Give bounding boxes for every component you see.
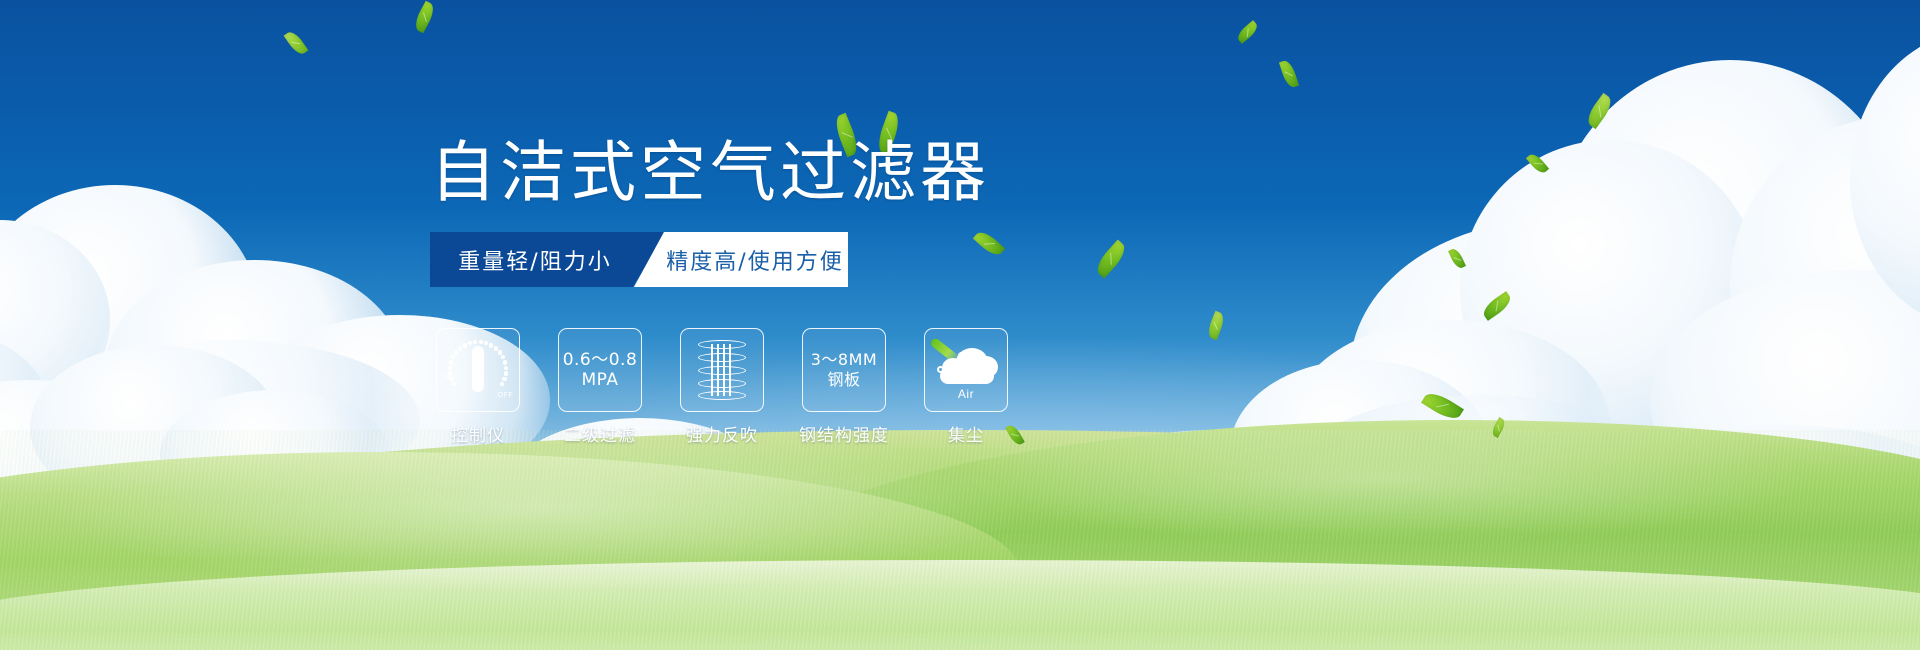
gauge-tick-icon xyxy=(452,382,456,386)
badge-precision-easyuse[interactable]: 精度高/使用方便 xyxy=(634,232,848,287)
gauge-tick-icon xyxy=(504,371,508,375)
feature-strong-backblow[interactable]: 强力反吹 xyxy=(680,328,764,446)
page-title: 自洁式空气过滤器 xyxy=(430,140,990,206)
feature-icon-text-line1: 3～8MM xyxy=(811,350,877,370)
feature-icon-text: 3～8MM 钢板 xyxy=(811,350,877,390)
filter-cartridge-icon xyxy=(698,340,746,400)
gauge-tick-icon xyxy=(454,350,458,354)
gauge-label-off: OFF xyxy=(498,392,513,399)
gauge-tick-icon xyxy=(500,382,504,386)
feature-icon-text-line1: 0.6～0.8 xyxy=(563,350,638,370)
gauge-tick-icon xyxy=(503,360,507,364)
feature-label: 钢结构强度 xyxy=(799,421,889,446)
feature-icon-box xyxy=(680,328,764,412)
gauge-needle-icon xyxy=(472,346,484,392)
hero-banner: 自洁式空气过滤器 重量轻/阻力小 精度高/使用方便 NO OFF 控制仪 xyxy=(0,0,1920,650)
feature-icon-box: 0.6～0.8 MPA xyxy=(558,328,642,412)
gauge-tick-icon xyxy=(498,350,502,354)
gauge-tick-icon xyxy=(458,346,462,350)
air-cloud-icon: Air xyxy=(934,340,998,400)
feature-label: 控制仪 xyxy=(451,421,505,446)
gauge-tick-icon xyxy=(502,377,506,381)
feature-label: 集尘 xyxy=(948,421,984,446)
badge-lightweight-lowresistance[interactable]: 重量轻/阻力小 xyxy=(430,232,666,287)
feature-controller[interactable]: NO OFF 控制仪 xyxy=(436,328,520,446)
feature-icon-box: NO OFF xyxy=(436,328,520,412)
banner-content: 自洁式空气过滤器 重量轻/阻力小 精度高/使用方便 NO OFF 控制仪 xyxy=(0,0,1920,650)
feature-icon-row: NO OFF 控制仪 0.6～0.8 MPA 二级过滤 xyxy=(436,328,1008,446)
air-label: Air xyxy=(934,387,998,401)
gauge-tick-icon xyxy=(449,360,453,364)
gauge-tick-icon xyxy=(504,366,508,370)
feature-icon-text-line2: MPA xyxy=(563,370,638,390)
gauge-label-no: NO xyxy=(444,374,455,381)
feature-steel-strength[interactable]: 3～8MM 钢板 钢结构强度 xyxy=(802,328,886,446)
feature-icon-box: 3～8MM 钢板 xyxy=(802,328,886,412)
gauge-tick-icon xyxy=(463,343,467,347)
gauge-tick-icon xyxy=(494,346,498,350)
gauge-tick-icon xyxy=(489,343,493,347)
gauge-tick-icon xyxy=(473,340,477,344)
feature-two-stage-filter[interactable]: 0.6～0.8 MPA 二级过滤 xyxy=(558,328,642,446)
gauge-tick-icon xyxy=(468,341,472,345)
gauge-icon: NO OFF xyxy=(445,338,511,402)
gauge-tick-icon xyxy=(479,340,483,344)
feature-label: 强力反吹 xyxy=(686,421,758,446)
feature-dust-collection[interactable]: Air 集尘 xyxy=(924,328,1008,446)
feature-icon-text-line2: 钢板 xyxy=(811,370,877,390)
feature-label: 二级过滤 xyxy=(564,421,636,446)
gauge-tick-icon xyxy=(448,366,452,370)
gauge-tick-icon xyxy=(501,355,505,359)
gauge-tick-icon xyxy=(451,355,455,359)
feature-icon-text: 0.6～0.8 MPA xyxy=(563,350,638,390)
gauge-tick-icon xyxy=(484,341,488,345)
feature-icon-box: Air xyxy=(924,328,1008,412)
